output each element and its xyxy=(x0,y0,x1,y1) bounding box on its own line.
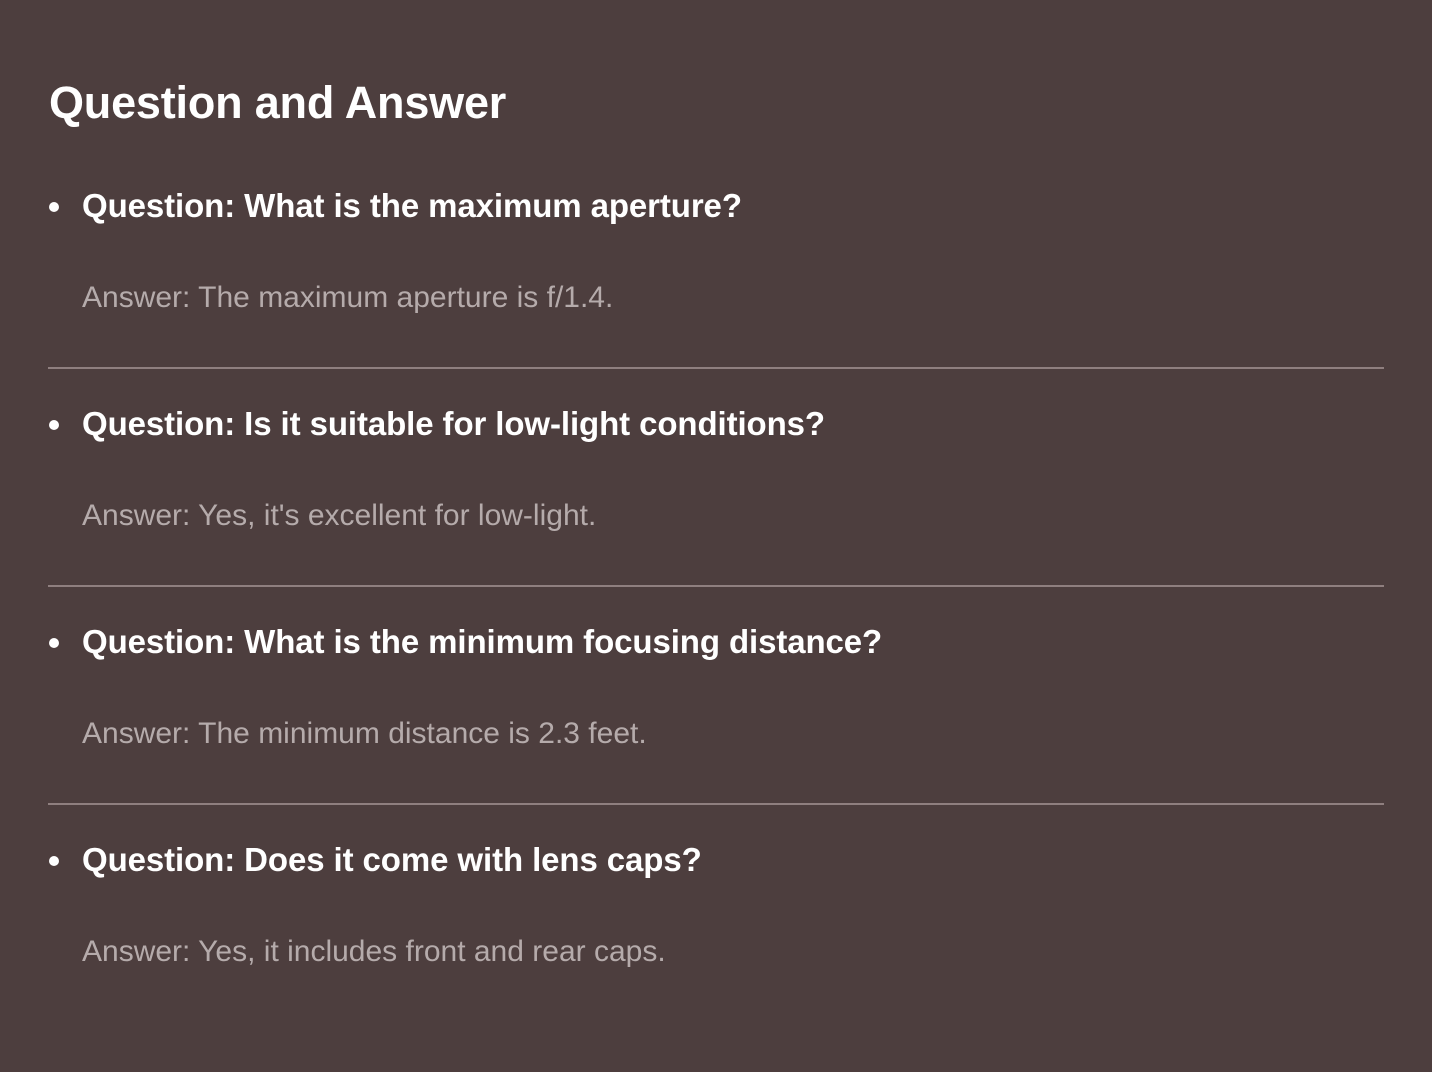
bullet-dot-icon xyxy=(49,420,59,430)
page-title: Question and Answer xyxy=(49,78,506,128)
qa-page: Question and Answer Question: What is th… xyxy=(0,0,1432,1072)
question-text: Question: Does it come with lens caps? xyxy=(82,840,702,880)
bullet-dot-icon xyxy=(49,638,59,648)
answer-text: Answer: Yes, it's excellent for low-ligh… xyxy=(82,498,1392,534)
question-row: Question: What is the maximum aperture? xyxy=(49,186,1392,226)
question-row: Question: What is the minimum focusing d… xyxy=(49,622,1392,662)
qa-item: Question: What is the minimum focusing d… xyxy=(0,586,1432,804)
answer-text: Answer: Yes, it includes front and rear … xyxy=(82,934,1392,970)
question-text: Question: What is the maximum aperture? xyxy=(82,186,742,226)
qa-item: Question: Does it come with lens caps? A… xyxy=(0,804,1432,1022)
answer-text: Answer: The minimum distance is 2.3 feet… xyxy=(82,716,1392,752)
qa-item: Question: What is the maximum aperture? … xyxy=(0,150,1432,368)
question-text: Question: What is the minimum focusing d… xyxy=(82,622,882,662)
bullet-dot-icon xyxy=(49,856,59,866)
qa-item: Question: Is it suitable for low-light c… xyxy=(0,368,1432,586)
question-row: Question: Is it suitable for low-light c… xyxy=(49,404,1392,444)
question-text: Question: Is it suitable for low-light c… xyxy=(82,404,825,444)
answer-text: Answer: The maximum aperture is f/1.4. xyxy=(82,280,1392,316)
qa-list: Question: What is the maximum aperture? … xyxy=(0,150,1432,1022)
bullet-dot-icon xyxy=(49,202,59,212)
question-row: Question: Does it come with lens caps? xyxy=(49,840,1392,880)
